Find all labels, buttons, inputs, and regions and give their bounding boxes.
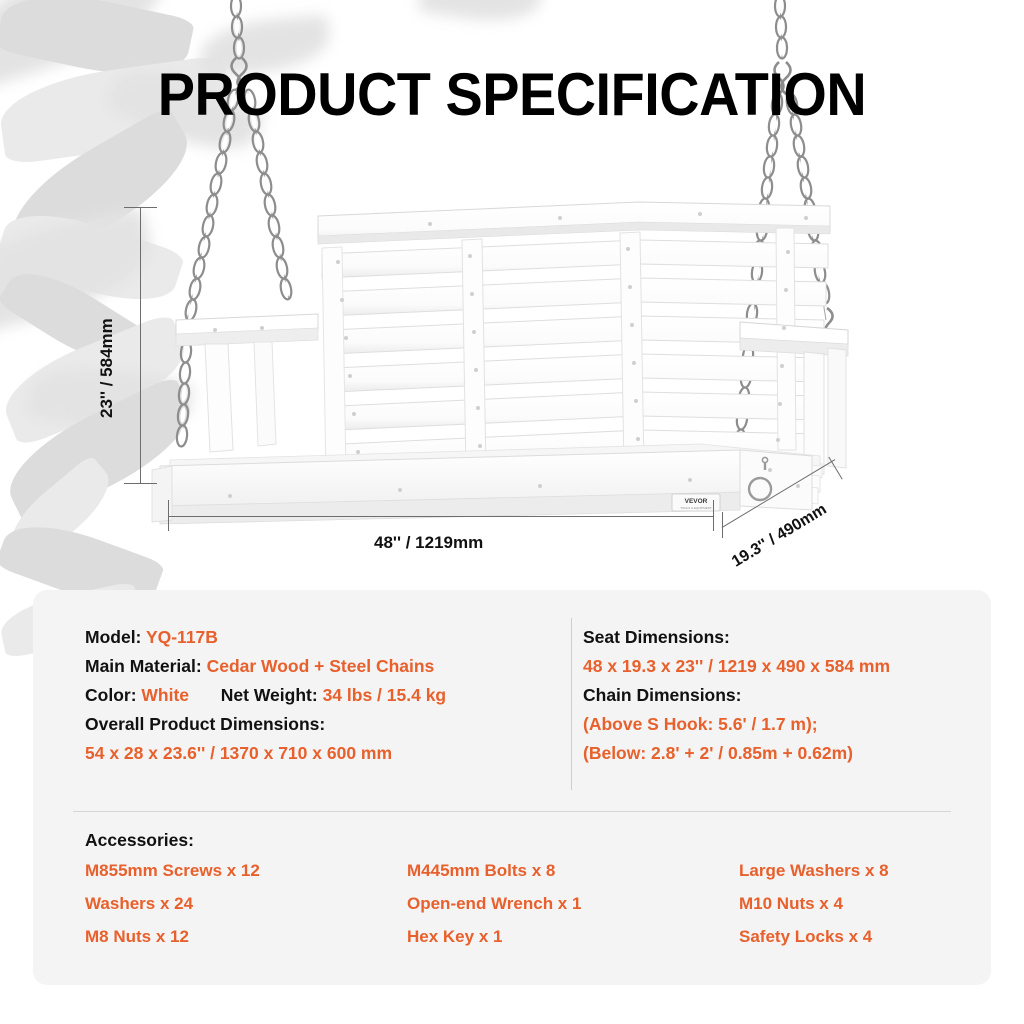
chain-below-value: (Below: 2.8' + 2' / 0.85m + 0.62m) (583, 739, 991, 768)
material-label: Main Material: (85, 656, 202, 676)
accessory-item: Large Washers x 8 (739, 861, 951, 881)
width-tick-right (713, 500, 714, 531)
accessory-item: Safety Locks x 4 (739, 927, 951, 947)
spec-row-model: Model: YQ-117B (85, 623, 538, 652)
spec-row-color-weight: Color: White Net Weight: 34 lbs / 15.4 k… (85, 681, 538, 710)
page-title: PRODUCT SPECIFICATION (36, 60, 988, 129)
accessory-item: Washers x 24 (85, 894, 407, 914)
material-value: Cedar Wood + Steel Chains (207, 656, 435, 676)
height-dimension-label: 23'' / 584mm (97, 318, 117, 418)
overall-dimensions-value: 54 x 28 x 23.6'' / 1370 x 710 x 600 mm (85, 739, 538, 768)
accessory-item: M445mm Bolts x 8 (407, 861, 739, 881)
spec-column-right: Seat Dimensions: 48 x 19.3 x 23'' / 1219… (538, 590, 991, 811)
svg-text:VEVOR: VEVOR (685, 498, 708, 505)
width-tick-left (168, 500, 169, 531)
vertical-divider (571, 618, 572, 790)
model-value: YQ-117B (146, 627, 218, 647)
seat-dimensions-label: Seat Dimensions: (583, 623, 991, 652)
height-tick-top (124, 207, 157, 208)
accessory-item: M10 Nuts x 4 (739, 894, 951, 914)
overall-dimensions-label: Overall Product Dimensions: (85, 710, 538, 739)
accessory-item: Open-end Wrench x 1 (407, 894, 739, 914)
height-tick-bottom (124, 483, 157, 484)
width-dimension-line (168, 516, 714, 517)
height-dimension-line (140, 207, 141, 484)
color-value: White (141, 685, 189, 705)
specification-panel: Model: YQ-117B Main Material: Cedar Wood… (33, 590, 991, 985)
weight-label: Net Weight: (221, 685, 318, 705)
svg-text:TOOLS & EQUIPMENT: TOOLS & EQUIPMENT (680, 506, 712, 510)
chain-dimensions-label: Chain Dimensions: (583, 681, 991, 710)
horizontal-divider (73, 811, 951, 812)
accessory-item: M855mm Screws x 12 (85, 861, 407, 881)
accessories-title: Accessories: (85, 830, 951, 851)
accessories-grid: M855mm Screws x 12 M445mm Bolts x 8 Larg… (85, 861, 951, 947)
color-label: Color: (85, 685, 137, 705)
chain-above-value: (Above S Hook: 5.6' / 1.7 m); (583, 710, 991, 739)
product-specification-page: PRODUCT SPECIFICATION (0, 0, 1024, 1024)
model-label: Model: (85, 627, 141, 647)
depth-tick-near (722, 512, 723, 538)
width-dimension-label: 48'' / 1219mm (374, 533, 483, 553)
weight-value: 34 lbs / 15.4 kg (323, 685, 447, 705)
spec-top-section: Model: YQ-117B Main Material: Cedar Wood… (33, 590, 991, 811)
accessory-item: Hex Key x 1 (407, 927, 739, 947)
spec-column-left: Model: YQ-117B Main Material: Cedar Wood… (33, 590, 538, 811)
spec-row-material: Main Material: Cedar Wood + Steel Chains (85, 652, 538, 681)
accessories-section: Accessories: M855mm Screws x 12 M445mm B… (85, 830, 951, 985)
accessory-item: M8 Nuts x 12 (85, 927, 407, 947)
seat-dimensions-value: 48 x 19.3 x 23'' / 1219 x 490 x 584 mm (583, 652, 991, 681)
